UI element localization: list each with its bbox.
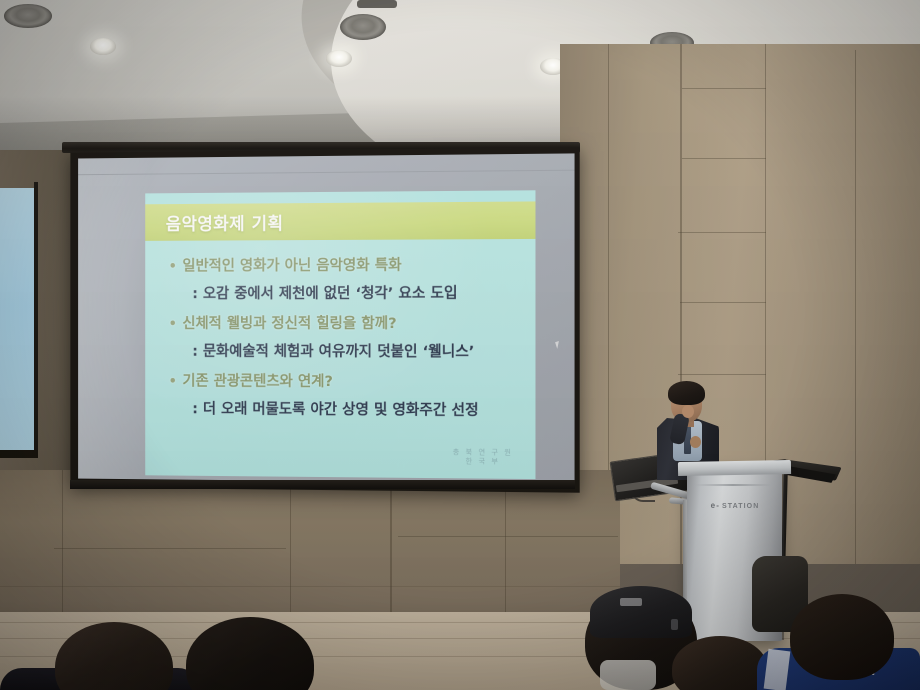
slide-body: •일반적인 영화가 아닌 음악영화 특화 : 오감 중에서 제천에 없던 ‘청각… — [145, 239, 535, 479]
side-display-bottom-bar — [0, 450, 38, 458]
bullet-sub: : 오감 중에서 제천에 없던 ‘청각’ 요소 도입 — [192, 282, 457, 303]
slide-title: 음악영화제 기획 — [166, 209, 284, 235]
audience-cap — [590, 586, 692, 638]
slide-logo-line1: 충 북 연 구 원 — [453, 448, 513, 458]
screen-surface: 음악영화제 기획 •일반적인 영화가 아닌 음악영화 특화 : 오감 중에서 제… — [78, 153, 574, 483]
bullet-sub: : 더 오래 머물도록 야간 상영 및 영화주간 선정 — [192, 397, 478, 420]
bullet-marker-icon: • — [169, 260, 183, 275]
bullet-heading: •일반적인 영화가 아닌 음악영화 특화 — [169, 254, 402, 276]
bullet-sub: : 문화예술적 체험과 여유까지 덧붙인 ‘웰니스’ — [192, 340, 474, 362]
bullet-heading-text: 일반적인 영화가 아닌 음악영화 특화 — [182, 258, 401, 275]
jersey-stripe — [764, 649, 791, 690]
podium-brand-logo: e-STATION — [700, 501, 770, 510]
speaker-hand — [690, 436, 701, 448]
cap-logo-icon — [620, 598, 642, 606]
side-display — [0, 188, 36, 450]
slide-watermark-logo: 충 북 연 구 원 한 국 부 — [453, 448, 513, 467]
ceiling-grille-icon — [340, 14, 386, 40]
audience-collar — [600, 660, 656, 690]
speaker-hand — [682, 405, 694, 418]
screen-glow — [78, 158, 151, 480]
ceiling-downlight-icon — [90, 38, 116, 55]
bullet-marker-icon: • — [169, 374, 183, 389]
cap-button-icon — [671, 619, 678, 630]
bullet-heading-text: 기존 관광콘텐츠와 연계? — [182, 374, 332, 391]
bullet-heading: •신체적 웰빙과 정신적 힐링을 함께? — [169, 312, 397, 333]
projection-screen: 음악영화제 기획 •일반적인 영화가 아닌 음악영화 특화 : 오감 중에서 제… — [70, 147, 579, 492]
bullet-heading: •기존 관광콘텐츠와 연계? — [169, 370, 333, 392]
ceiling-downlight-icon — [326, 50, 352, 67]
podium-brand-mark: e- — [711, 501, 720, 510]
presentation-slide: 음악영화제 기획 •일반적인 영화가 아닌 음악영화 특화 : 오감 중에서 제… — [145, 190, 535, 479]
speaker-hair — [668, 381, 705, 405]
slide-logo-line2: 한 국 부 — [453, 457, 513, 467]
audience-head — [790, 594, 894, 680]
screen-seam — [78, 170, 574, 176]
side-display-frame — [34, 182, 38, 456]
screen-bottom-bar — [70, 480, 575, 489]
podium-etch-line — [695, 484, 771, 486]
podium-top-surface — [678, 460, 791, 476]
podium-brand-text: STATION — [722, 503, 759, 510]
bullet-heading-text: 신체적 웰빙과 정신적 힐링을 함께? — [182, 316, 396, 332]
ceiling-grille-icon — [4, 4, 52, 28]
bullet-marker-icon: • — [169, 317, 183, 332]
ceiling-vent — [357, 0, 397, 8]
lecture-hall-photo: 음악영화제 기획 •일반적인 영화가 아닌 음악영화 특화 : 오감 중에서 제… — [0, 0, 920, 690]
